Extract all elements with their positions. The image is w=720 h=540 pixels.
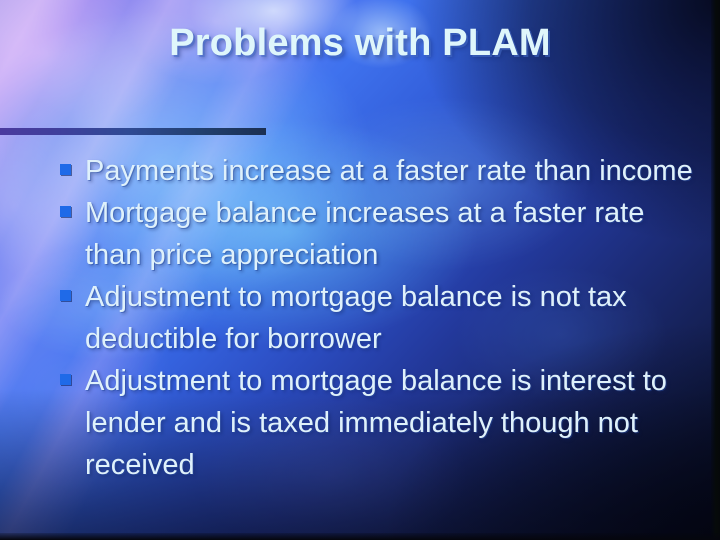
square-bullet-icon xyxy=(60,374,71,385)
bullet-item-text: Adjustment to mortgage balance is not ta… xyxy=(85,276,702,360)
background-right-edge-strip xyxy=(711,0,720,540)
bullet-item-text: Adjustment to mortgage balance is intere… xyxy=(85,360,702,486)
bullet-item-text: Payments increase at a faster rate than … xyxy=(85,150,702,192)
bullet-item-text: Mortgage balance increases at a faster r… xyxy=(85,192,702,276)
list-item: Payments increase at a faster rate than … xyxy=(60,150,702,192)
square-bullet-icon xyxy=(60,164,71,175)
list-item: Mortgage balance increases at a faster r… xyxy=(60,192,702,276)
square-bullet-icon xyxy=(60,206,71,217)
bullet-list: Payments increase at a faster rate than … xyxy=(60,150,702,486)
square-bullet-icon xyxy=(60,290,71,301)
list-item: Adjustment to mortgage balance is intere… xyxy=(60,360,702,486)
list-item: Adjustment to mortgage balance is not ta… xyxy=(60,276,702,360)
slide-title: Problems with PLAM xyxy=(0,22,720,65)
background-bottom-edge-strip xyxy=(0,533,720,540)
title-divider-bar xyxy=(0,128,266,135)
slide-canvas: Problems with PLAM Payments increase at … xyxy=(0,0,720,540)
